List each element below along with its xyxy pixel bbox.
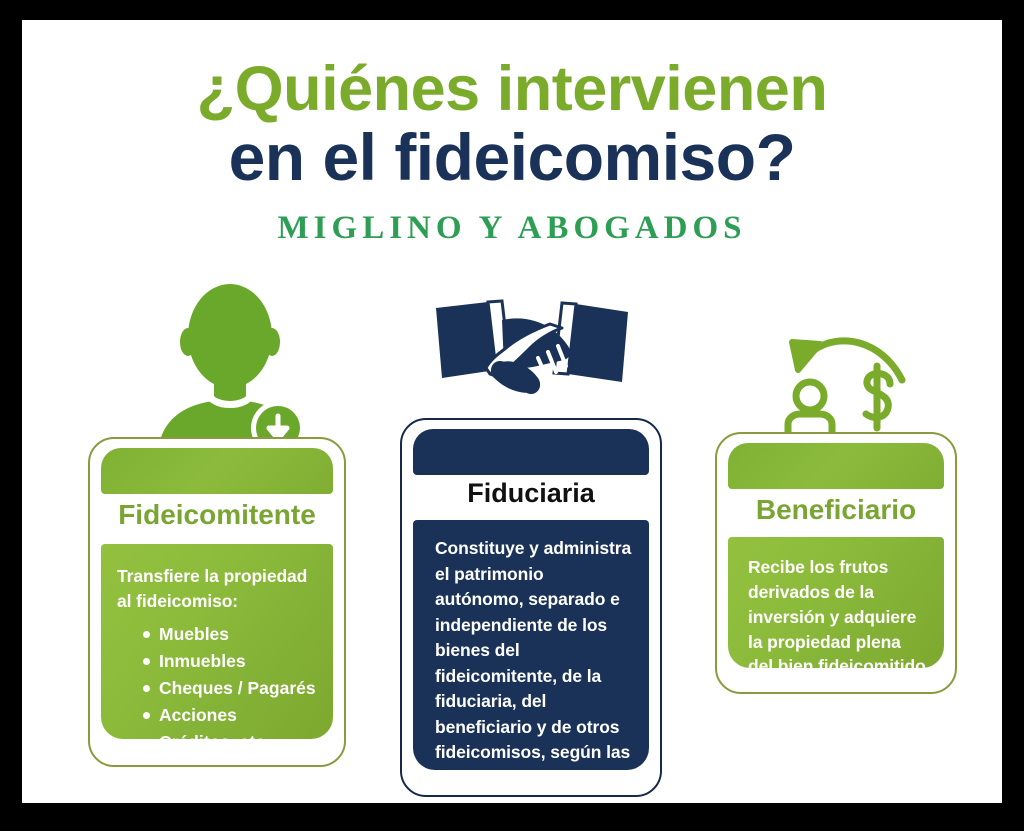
card-header-cap — [101, 448, 333, 494]
transfer-list: Muebles Inmuebles Cheques / Pagarés Acci… — [117, 624, 317, 753]
list-item: Cheques / Pagarés — [143, 678, 317, 699]
list-item: Inmuebles — [143, 651, 317, 672]
card-body-text: Recibe los frutos derivados de la invers… — [748, 555, 930, 694]
person-download-icon — [150, 282, 330, 457]
card-fideicomitente[interactable]: Fideicomitente Transfiere la propiedad a… — [88, 437, 346, 767]
card-body: Transfiere la propiedad al fideicomiso: … — [101, 544, 333, 739]
money-return-icon — [778, 328, 918, 446]
poster-frame: ¿Quiénes intervienen en el fideicomiso? … — [22, 20, 1002, 803]
card-body: Recibe los frutos derivados de la invers… — [728, 537, 944, 668]
card-body: Constituye y administra el patrimonio au… — [413, 520, 649, 770]
list-item: Acciones — [143, 705, 317, 726]
card-header-cap — [728, 443, 944, 489]
title-block: ¿Quiénes intervienen en el fideicomiso? … — [22, 20, 1002, 260]
card-intro-text: Transfiere la propiedad al fideicomiso: — [117, 564, 317, 614]
card-title: Beneficiario — [717, 496, 955, 524]
card-body-text: Constituye y administra el patrimonio au… — [435, 536, 633, 797]
handshake-icon — [434, 298, 630, 423]
brand-subtitle: MIGLINO Y ABOGADOS — [22, 212, 1002, 245]
page-title-line1: ¿Quiénes intervienen — [22, 58, 1002, 121]
list-item: Créditos, etc. — [143, 732, 317, 753]
card-fiduciaria[interactable]: Fiduciaria Constituye y administra el pa… — [400, 418, 662, 797]
list-item: Muebles — [143, 624, 317, 645]
page-title-line2: en el fideicomiso? — [22, 124, 1002, 190]
card-title: Fiduciaria — [402, 480, 660, 507]
card-header-cap — [413, 429, 649, 475]
card-title: Fideicomitente — [90, 501, 344, 529]
card-beneficiario[interactable]: Beneficiario Recibe los frutos derivados… — [715, 432, 957, 694]
